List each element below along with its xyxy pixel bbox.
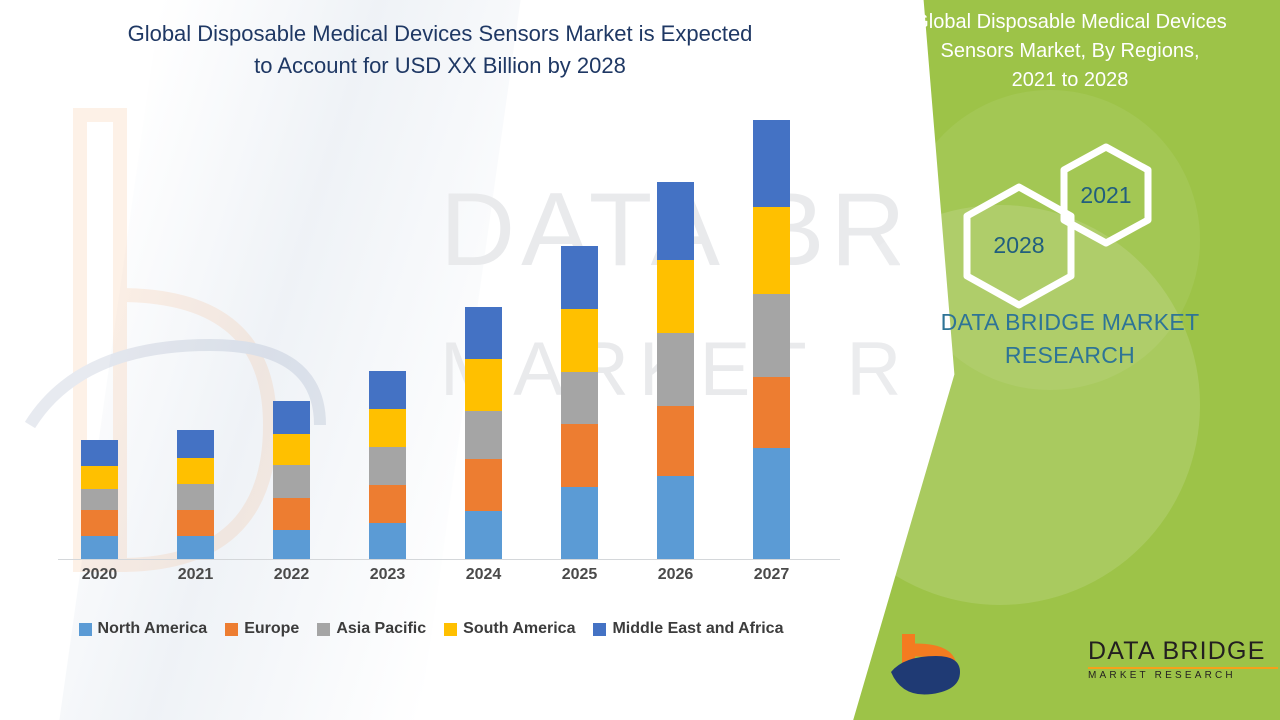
bar-segment bbox=[753, 120, 790, 207]
hexagon-badges: 2021 2028 bbox=[840, 140, 1280, 290]
x-axis-label-2024: 2024 bbox=[454, 566, 514, 584]
x-axis-label-2026: 2026 bbox=[646, 566, 706, 584]
x-axis-labels: 20202021202220232024202520262027 bbox=[40, 566, 840, 594]
legend-swatch-icon bbox=[225, 623, 238, 636]
bar-segment bbox=[561, 372, 598, 425]
chart-plot-area bbox=[40, 120, 840, 560]
bar-segment bbox=[81, 489, 118, 510]
bar-2024 bbox=[465, 307, 502, 559]
legend-label: Europe bbox=[244, 620, 299, 638]
chart-panel: DATA BRIDGE MARKET RESEARCH Global Dispo… bbox=[0, 0, 900, 720]
bar-segment bbox=[81, 440, 118, 466]
bar-segment bbox=[465, 411, 502, 459]
bar-segment bbox=[369, 371, 406, 410]
bar-segment bbox=[465, 359, 502, 411]
x-axis-label-2025: 2025 bbox=[550, 566, 610, 584]
legend-swatch-icon bbox=[317, 623, 330, 636]
bar-segment bbox=[369, 485, 406, 523]
bar-segment bbox=[753, 448, 790, 560]
legend-swatch-icon bbox=[593, 623, 606, 636]
bar-2025 bbox=[561, 246, 598, 559]
bar-segment bbox=[273, 401, 310, 434]
bar-segment bbox=[273, 434, 310, 465]
x-axis-label-2020: 2020 bbox=[70, 566, 130, 584]
logo-subtitle: MARKET RESEARCH bbox=[1088, 671, 1278, 681]
bar-segment bbox=[561, 424, 598, 487]
bar-segment bbox=[753, 294, 790, 377]
info-panel-title-line1: Global Disposable Medical Devices bbox=[860, 8, 1280, 37]
slide-canvas: DATA BRIDGE MARKET RESEARCH Global Dispo… bbox=[0, 0, 1280, 720]
legend-item-asia-pacific[interactable]: Asia Pacific bbox=[317, 620, 426, 638]
bar-segment bbox=[177, 510, 214, 536]
legend-label: Middle East and Africa bbox=[612, 620, 783, 638]
bar-segment bbox=[369, 447, 406, 485]
bar-segment bbox=[753, 377, 790, 447]
brand-name-line2: RESEARCH bbox=[860, 339, 1280, 372]
hexagon-2028-label: 2028 bbox=[958, 232, 1080, 259]
info-panel-title-line3: 2021 to 2028 bbox=[860, 66, 1280, 95]
info-panel-title: Global Disposable Medical Devices Sensor… bbox=[860, 8, 1280, 95]
bar-segment bbox=[465, 307, 502, 359]
bar-segment bbox=[177, 430, 214, 458]
brand-name-line1: DATA BRIDGE MARKET bbox=[860, 306, 1280, 339]
bar-segment bbox=[273, 530, 310, 559]
bar-2027 bbox=[753, 120, 790, 559]
chart-legend: North AmericaEuropeAsia PacificSouth Ame… bbox=[40, 616, 840, 642]
bar-segment bbox=[465, 459, 502, 511]
page-title-line2: to Account for USD XX Billion by 2028 bbox=[60, 50, 820, 82]
page-title: Global Disposable Medical Devices Sensor… bbox=[60, 18, 820, 82]
x-axis-label-2023: 2023 bbox=[358, 566, 418, 584]
legend-swatch-icon bbox=[79, 623, 92, 636]
x-axis-label-2022: 2022 bbox=[262, 566, 322, 584]
brand-name: DATA BRIDGE MARKET RESEARCH bbox=[860, 306, 1280, 371]
bar-2020 bbox=[81, 440, 118, 559]
x-axis-label-2021: 2021 bbox=[166, 566, 226, 584]
bar-2021 bbox=[177, 430, 214, 559]
page-title-line1: Global Disposable Medical Devices Sensor… bbox=[60, 18, 820, 50]
bar-segment bbox=[753, 207, 790, 294]
bar-segment bbox=[81, 466, 118, 489]
legend-label: North America bbox=[98, 620, 208, 638]
bar-2023 bbox=[369, 371, 406, 559]
bar-segment bbox=[657, 406, 694, 475]
bar-segment bbox=[81, 510, 118, 536]
bar-series-container bbox=[40, 120, 840, 559]
bar-2022 bbox=[273, 401, 310, 559]
logo-text: DATA BRIDGE MARKET RESEARCH bbox=[1088, 639, 1278, 681]
bar-segment bbox=[657, 260, 694, 334]
bar-segment bbox=[273, 498, 310, 530]
legend-label: South America bbox=[463, 620, 575, 638]
bar-segment bbox=[657, 333, 694, 406]
logo-divider bbox=[1088, 667, 1278, 669]
legend-label: Asia Pacific bbox=[336, 620, 426, 638]
data-bridge-logo-mark bbox=[888, 628, 1118, 702]
x-axis-label-2027: 2027 bbox=[742, 566, 802, 584]
bar-segment bbox=[177, 536, 214, 559]
legend-item-north-america[interactable]: North America bbox=[79, 620, 208, 638]
bar-segment bbox=[369, 523, 406, 559]
bar-segment bbox=[177, 484, 214, 510]
bar-segment bbox=[657, 476, 694, 559]
x-axis-line bbox=[58, 559, 840, 560]
bar-segment bbox=[561, 246, 598, 309]
legend-swatch-icon bbox=[444, 623, 457, 636]
legend-item-middle-east-and-africa[interactable]: Middle East and Africa bbox=[593, 620, 783, 638]
info-panel-title-line2: Sensors Market, By Regions, bbox=[860, 37, 1280, 66]
legend-item-europe[interactable]: Europe bbox=[225, 620, 299, 638]
bar-2026 bbox=[657, 182, 694, 559]
bar-segment bbox=[369, 409, 406, 447]
bar-segment bbox=[657, 182, 694, 259]
bar-segment bbox=[465, 511, 502, 559]
bar-segment bbox=[273, 465, 310, 498]
info-panel: Global Disposable Medical Devices Sensor… bbox=[840, 0, 1280, 720]
bar-segment bbox=[561, 487, 598, 559]
hexagon-badge-2028: 2028 bbox=[958, 182, 1080, 310]
logo-title: DATA BRIDGE bbox=[1088, 639, 1278, 664]
legend-item-south-america[interactable]: South America bbox=[444, 620, 575, 638]
bar-segment bbox=[177, 458, 214, 484]
bar-segment bbox=[81, 536, 118, 559]
bar-segment bbox=[561, 309, 598, 371]
